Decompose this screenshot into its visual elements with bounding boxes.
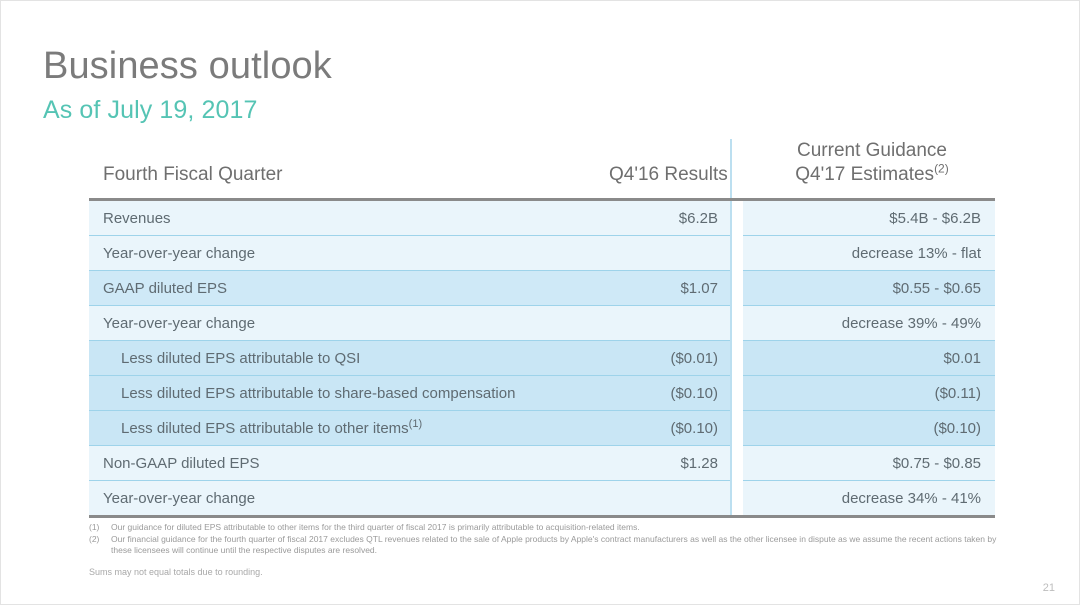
column-header-guidance-line1: Current Guidance xyxy=(749,139,995,163)
footnote-mark: (2) xyxy=(89,534,111,546)
row-label: Non-GAAP diluted EPS xyxy=(89,446,609,481)
footnote-item: (2) Our financial guidance for the fourt… xyxy=(89,534,999,557)
row-divider xyxy=(731,446,743,481)
row-divider xyxy=(731,306,743,341)
table-row: Revenues $6.2B $5.4B - $6.2B xyxy=(89,201,995,236)
row-results: $1.07 xyxy=(609,271,731,306)
table-row: Less diluted EPS attributable to QSI ($0… xyxy=(89,341,995,376)
column-header-quarter: Fourth Fiscal Quarter xyxy=(89,139,609,198)
row-label: Year-over-year change xyxy=(89,306,609,341)
row-divider xyxy=(731,271,743,306)
row-results: ($0.10) xyxy=(609,376,731,411)
page-title: Business outlook xyxy=(43,43,332,89)
table-row: Less diluted EPS attributable to share-b… xyxy=(89,376,995,411)
table-row: Year-over-year change decrease 39% - 49% xyxy=(89,306,995,341)
row-label: Year-over-year change xyxy=(89,481,609,516)
row-results: ($0.01) xyxy=(609,341,731,376)
footer-rule-right xyxy=(743,515,995,518)
row-results: ($0.10) xyxy=(609,411,731,446)
page-subtitle: As of July 19, 2017 xyxy=(43,94,258,126)
footnote-marker-2: (2) xyxy=(934,162,949,176)
table-row: GAAP diluted EPS $1.07 $0.55 - $0.65 xyxy=(89,271,995,306)
table-row: Less diluted EPS attributable to other i… xyxy=(89,411,995,446)
footnote-text: Our financial guidance for the fourth qu… xyxy=(111,534,999,557)
footer-rule xyxy=(89,515,995,518)
row-divider xyxy=(731,481,743,516)
row-guidance: ($0.11) xyxy=(743,376,995,411)
row-divider xyxy=(731,341,743,376)
row-results xyxy=(609,481,731,516)
column-header-guidance: Current Guidance Q4'17 Estimates(2) xyxy=(743,139,995,198)
row-guidance: $0.55 - $0.65 xyxy=(743,271,995,306)
row-guidance: $0.75 - $0.85 xyxy=(743,446,995,481)
row-divider xyxy=(731,236,743,271)
footnote-item: (1) Our guidance for diluted EPS attribu… xyxy=(89,522,999,534)
footer-rule-mid xyxy=(609,515,731,518)
row-guidance: decrease 13% - flat xyxy=(743,236,995,271)
footnote-marker-1: (1) xyxy=(409,418,422,430)
row-guidance: decrease 39% - 49% xyxy=(743,306,995,341)
row-label: Year-over-year change xyxy=(89,236,609,271)
row-divider xyxy=(731,411,743,446)
row-label: Less diluted EPS attributable to QSI xyxy=(89,341,609,376)
row-label: GAAP diluted EPS xyxy=(89,271,609,306)
footer-rule-gap xyxy=(731,515,743,518)
footnote-mark: (1) xyxy=(89,522,111,534)
row-divider xyxy=(731,201,743,236)
table-header: Fourth Fiscal Quarter Q4'16 Results Curr… xyxy=(89,139,995,201)
table-row: Year-over-year change decrease 13% - fla… xyxy=(89,236,995,271)
column-header-results: Q4'16 Results xyxy=(609,139,731,198)
footnotes: (1) Our guidance for diluted EPS attribu… xyxy=(89,522,999,557)
row-guidance: $5.4B - $6.2B xyxy=(743,201,995,236)
row-results xyxy=(609,306,731,341)
row-label: Revenues xyxy=(89,201,609,236)
row-results xyxy=(609,236,731,271)
row-divider xyxy=(731,376,743,411)
row-guidance: decrease 34% - 41% xyxy=(743,481,995,516)
business-outlook-table: Fourth Fiscal Quarter Q4'16 Results Curr… xyxy=(89,139,995,518)
row-guidance: ($0.10) xyxy=(743,411,995,446)
page-number: 21 xyxy=(1043,582,1055,594)
table-body: Revenues $6.2B $5.4B - $6.2B Year-over-y… xyxy=(89,201,995,518)
row-label: Less diluted EPS attributable to other i… xyxy=(89,411,609,446)
column-divider xyxy=(731,139,743,198)
slide: Business outlook As of July 19, 2017 Fou… xyxy=(0,0,1080,605)
row-results: $6.2B xyxy=(609,201,731,236)
row-guidance: $0.01 xyxy=(743,341,995,376)
row-results: $1.28 xyxy=(609,446,731,481)
footer-rule-left xyxy=(89,515,609,518)
table-row: Year-over-year change decrease 34% - 41% xyxy=(89,481,995,516)
table-row: Non-GAAP diluted EPS $1.28 $0.75 - $0.85 xyxy=(89,446,995,481)
column-header-guidance-line2: Q4'17 Estimates(2) xyxy=(749,163,995,187)
row-label-text: Less diluted EPS attributable to other i… xyxy=(121,420,409,437)
row-label: Less diluted EPS attributable to share-b… xyxy=(89,376,609,411)
rounding-note: Sums may not equal totals due to roundin… xyxy=(89,566,263,578)
column-header-guidance-text: Q4'17 Estimates xyxy=(795,164,934,185)
footnote-text: Our guidance for diluted EPS attributabl… xyxy=(111,522,999,534)
